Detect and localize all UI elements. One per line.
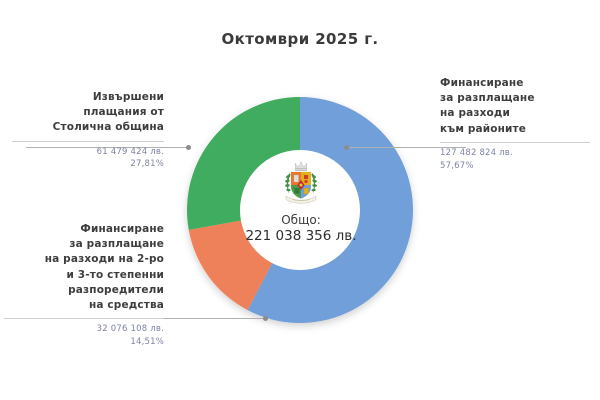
leader-dot-right xyxy=(344,145,349,150)
callout-line: на средства xyxy=(4,298,164,313)
callout-secondary-spenders-title: Финансиране за разплащане на разходи на … xyxy=(4,222,164,313)
callout-line: Извършени xyxy=(12,90,164,105)
callout-districts-percent: 57,67% xyxy=(440,160,590,173)
donut-svg xyxy=(170,62,430,357)
callout-secondary-spenders-value: 32 076 108 лв. xyxy=(4,323,164,336)
donut-hole xyxy=(240,150,360,270)
callout-divider xyxy=(12,141,164,142)
callout-secondary-spenders: Финансиране за разплащане на разходи на … xyxy=(4,222,164,349)
callout-line: и 3-то степенни xyxy=(4,268,164,283)
callout-districts: Финансиране за разплащане на разходи към… xyxy=(440,76,590,172)
callout-line: за разплащане xyxy=(440,91,590,106)
callout-line: към районите xyxy=(440,122,590,137)
callout-line: Финансиране xyxy=(4,222,164,237)
callout-line: Финансиране xyxy=(440,76,590,91)
callout-divider xyxy=(4,318,164,319)
callout-municipality-payments-value: 61 479 424 лв. xyxy=(12,146,164,159)
callout-divider xyxy=(440,142,590,143)
callout-municipality-payments: Извършени плащания от Столична община 61… xyxy=(12,90,164,171)
page-title: Октомври 2025 г. xyxy=(0,30,600,48)
callout-line: за разплащане xyxy=(4,237,164,252)
callout-line: на разходи xyxy=(440,106,590,121)
chart-canvas: Октомври 2025 г. xyxy=(0,0,600,400)
callout-line: плащания от xyxy=(12,105,164,120)
callout-municipality-payments-percent: 27,81% xyxy=(12,158,164,171)
callout-municipality-payments-title: Извършени плащания от Столична община xyxy=(12,90,164,136)
callout-line: разпоредители xyxy=(4,283,164,298)
donut-chart xyxy=(170,62,430,357)
callout-districts-title: Финансиране за разплащане на разходи към… xyxy=(440,76,590,137)
callout-secondary-spenders-percent: 14,51% xyxy=(4,336,164,349)
callout-line: Столична община xyxy=(12,120,164,135)
leader-dot-top-left xyxy=(186,145,191,150)
leader-dot-bottom-left xyxy=(263,316,268,321)
callout-line: на разходи на 2-ро xyxy=(4,252,164,267)
callout-districts-value: 127 482 824 лв. xyxy=(440,147,590,160)
